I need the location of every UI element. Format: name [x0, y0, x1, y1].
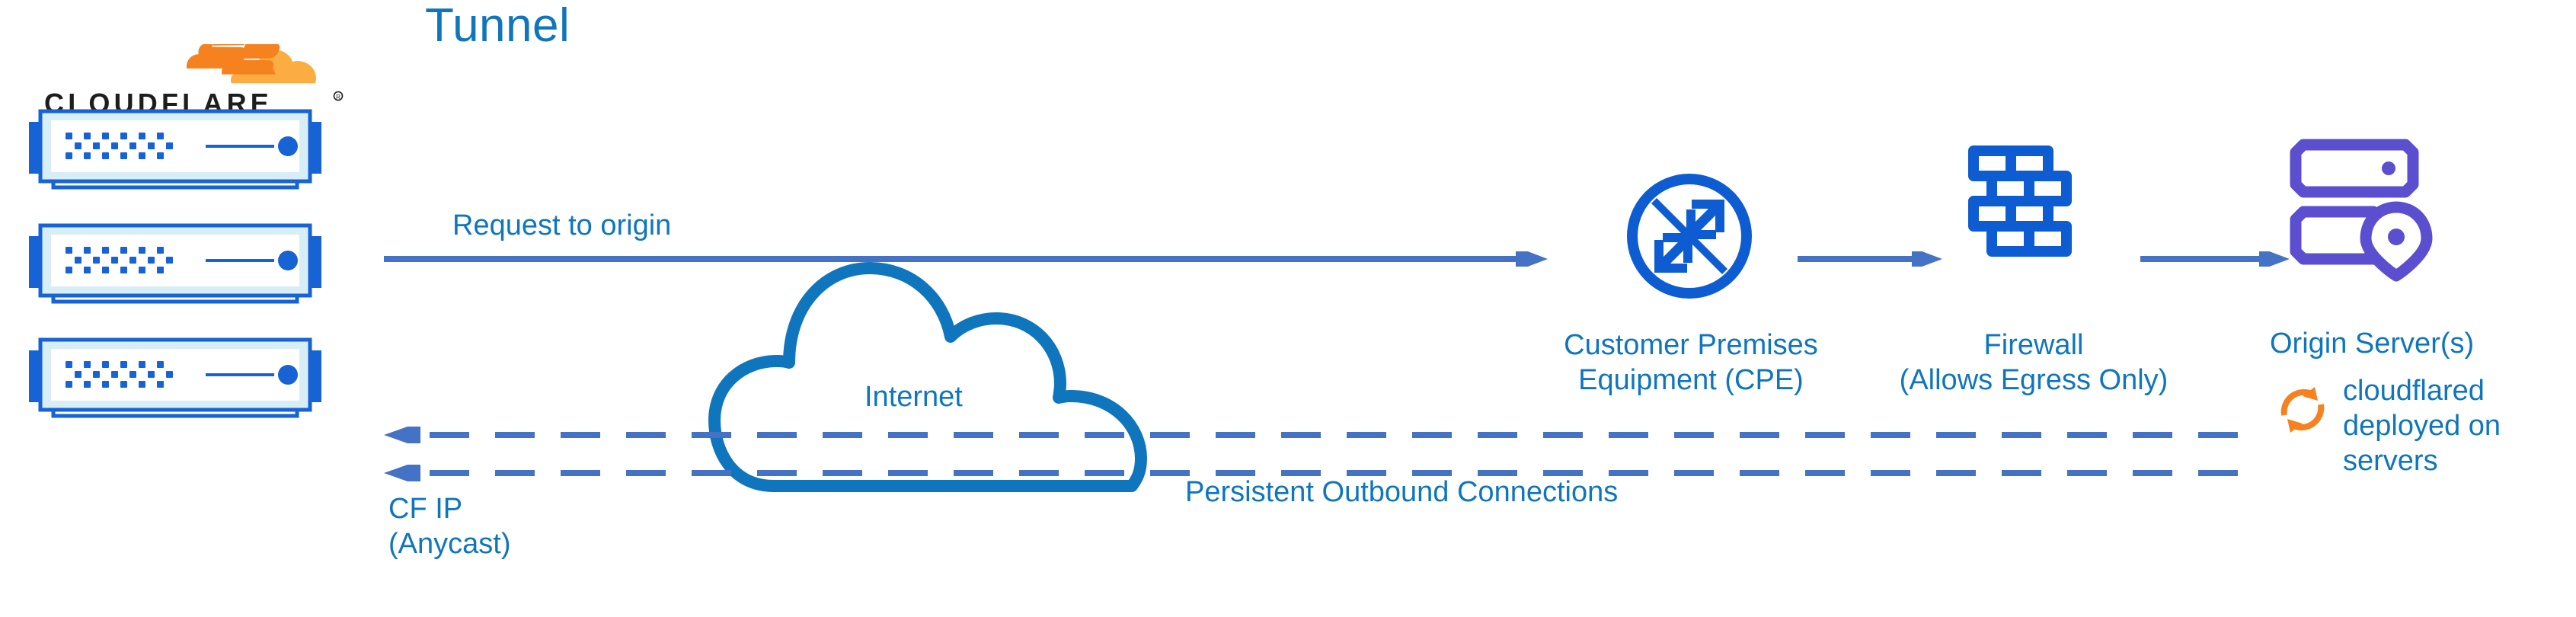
cpe-to-firewall-arrow: [1798, 251, 1942, 267]
cpe-label-line1: Customer Premises: [1539, 328, 1843, 363]
list-item[interactable]: [15, 107, 335, 198]
cpe-label: Customer Premises Equipment (CPE): [1539, 328, 1843, 398]
list-item[interactable]: [15, 335, 335, 427]
page-title: Tunnel: [425, 0, 570, 53]
return-flow-arrow-upper: [384, 427, 2262, 443]
brick-wall-icon: [1964, 143, 2101, 280]
cf-ip-label-line1: CF IP: [388, 491, 510, 526]
firewall-label: Firewall (Allows Egress Only): [1881, 328, 2186, 398]
cloudflared-label-line3: servers: [2343, 443, 2571, 478]
cloudflare-cloud-icon: [183, 44, 320, 91]
server-unit-icon: [15, 335, 335, 427]
cf-ip-label: CF IP (Anycast): [388, 491, 510, 561]
internet-label: Internet: [865, 381, 963, 414]
firewall-label-line2: (Allows Egress Only): [1881, 363, 2186, 398]
origin-server-label: Origin Server(s): [2270, 328, 2474, 360]
firewall-label-line1: Firewall: [1881, 328, 2186, 363]
cloudflared-label: cloudflared deployed on servers: [2343, 373, 2571, 478]
svg-text:R: R: [336, 94, 340, 101]
request-flow-label: Request to origin: [452, 209, 671, 242]
cf-ip-label-line2: (Anycast): [388, 526, 510, 561]
cloudflare-logo: CLOUDFLARE R: [21, 44, 341, 113]
firewall-to-origin-arrow: [2140, 251, 2290, 267]
server-rack-pin-icon: [2290, 137, 2434, 282]
four-arrows-circle-icon: [1621, 168, 1758, 305]
cloudflared-label-line1: cloudflared: [2343, 373, 2571, 408]
server-unit-icon: [15, 107, 335, 198]
list-item[interactable]: [15, 221, 335, 312]
server-unit-icon: [15, 221, 335, 312]
cpe-label-line2: Equipment (CPE): [1539, 363, 1843, 398]
internet-cloud-icon: [701, 221, 1188, 495]
cloudflared-label-line2: deployed on: [2343, 408, 2571, 443]
persistent-connections-label: Persistent Outbound Connections: [1185, 476, 1618, 509]
circular-sync-arrows-icon: [2274, 381, 2332, 439]
